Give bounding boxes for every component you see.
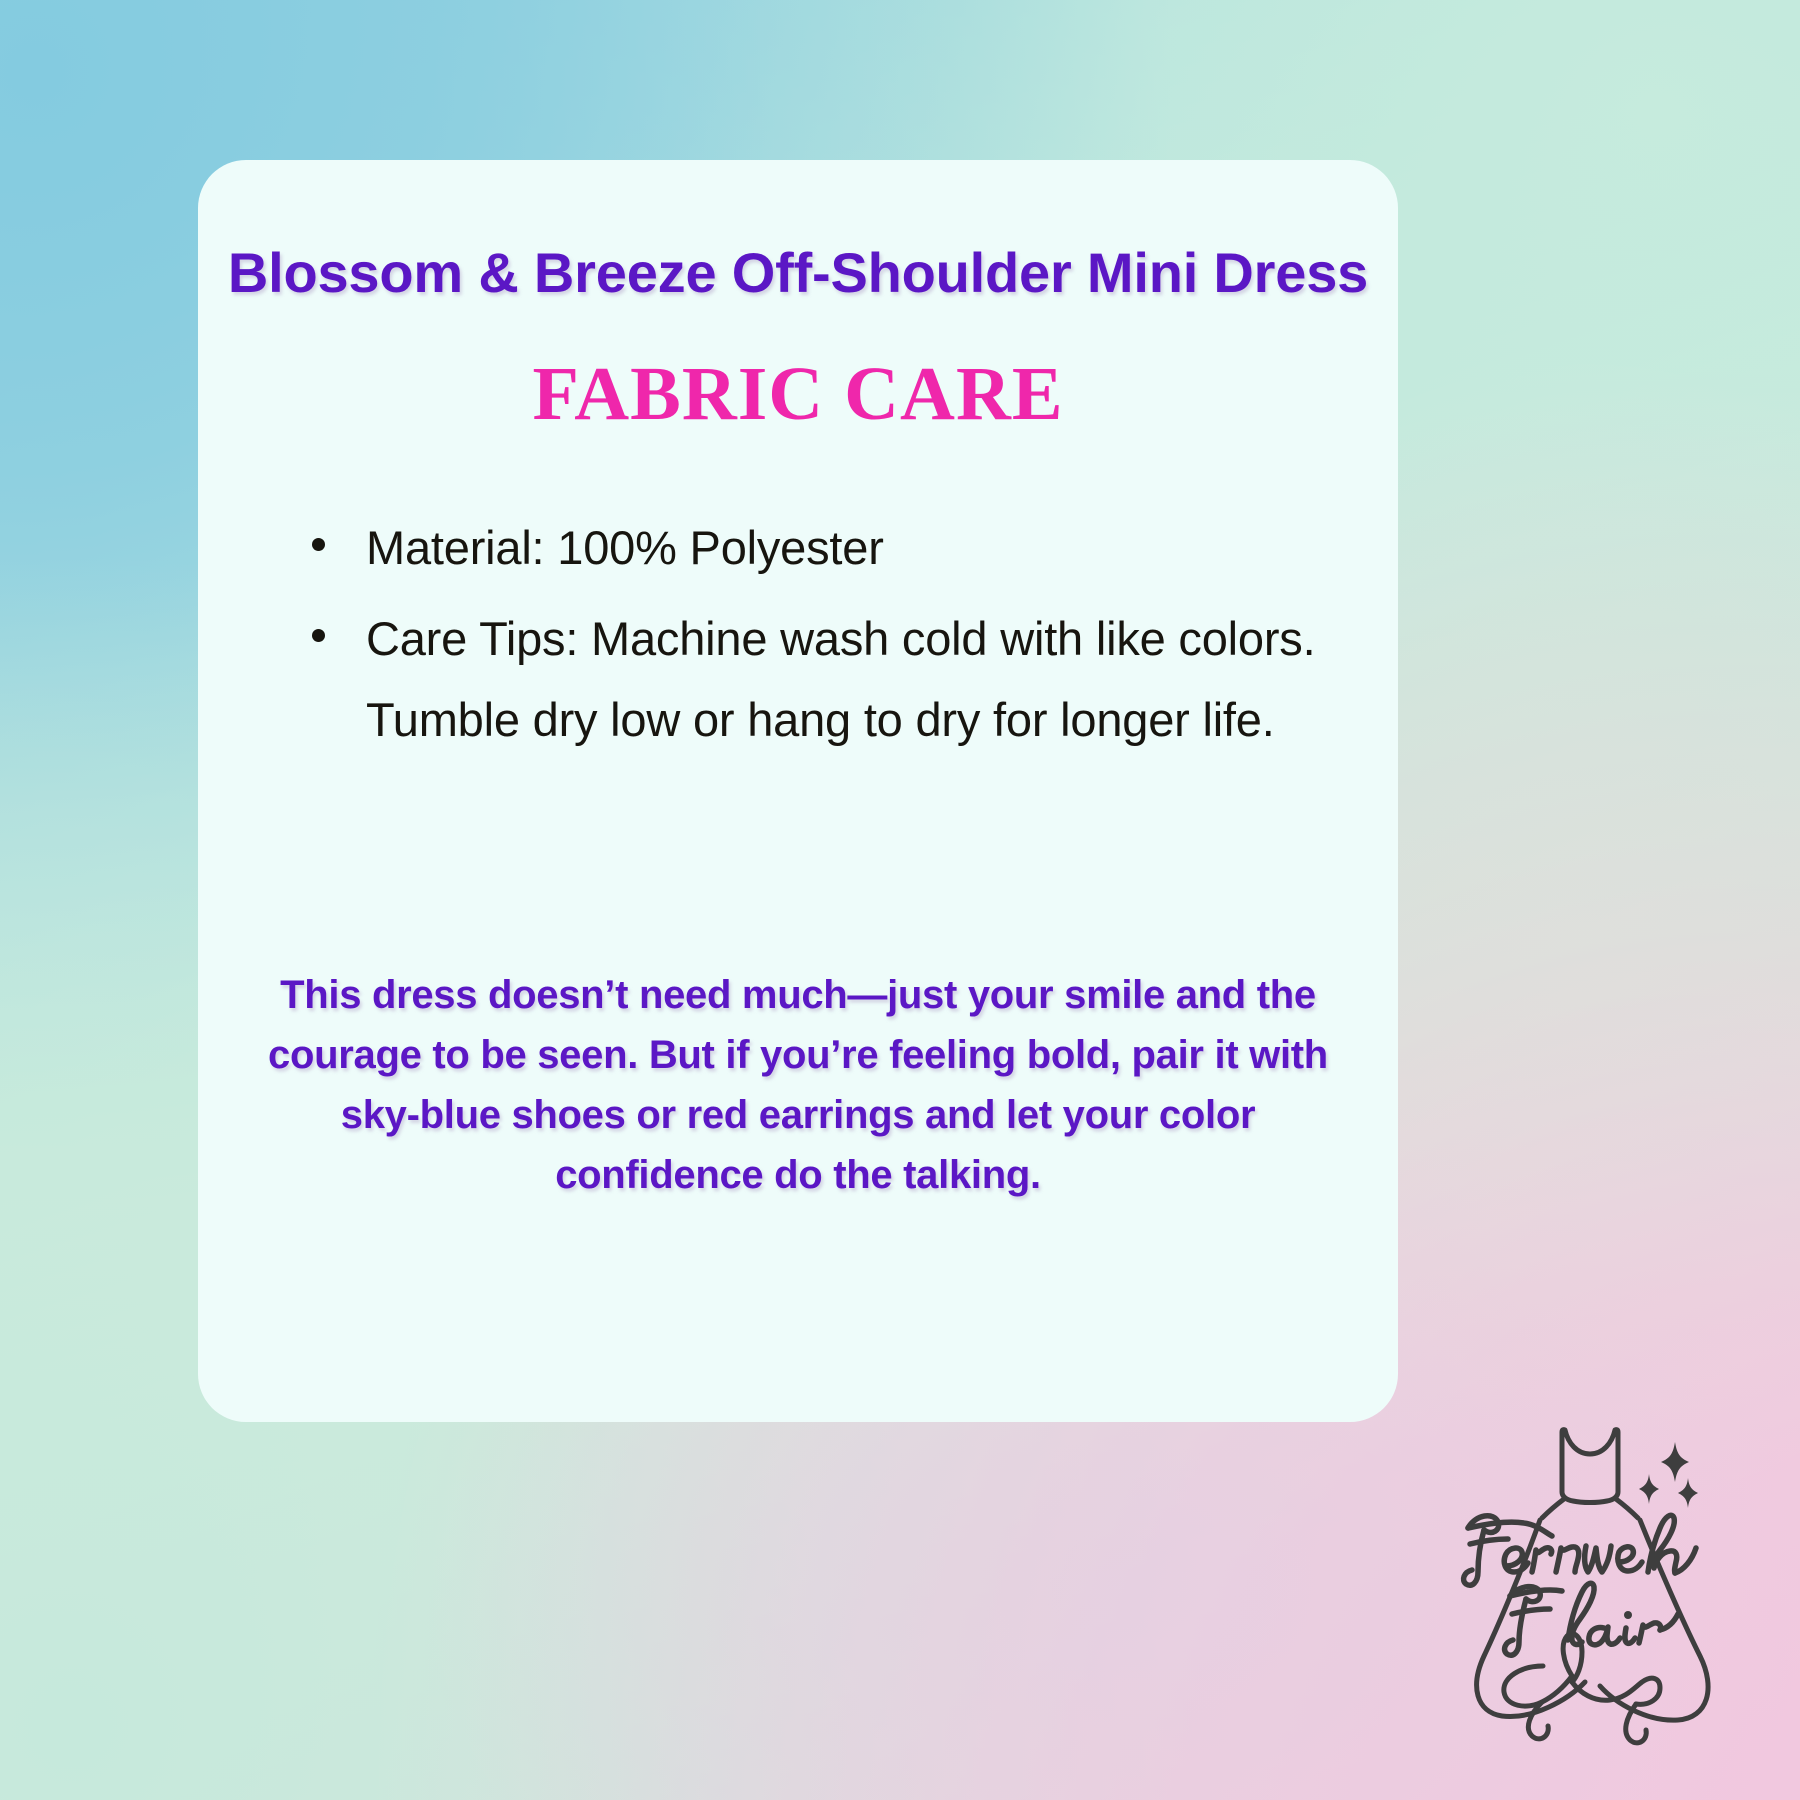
styling-note-paragraph: This dress doesn’t need much—just your s… [248, 965, 1348, 1205]
list-item-text: Material: 100% Polyester [366, 521, 884, 574]
content-card: Blossom & Breeze Off-Shoulder Mini Dress… [198, 160, 1398, 1422]
list-item: Material: 100% Polyester [290, 508, 1320, 589]
bullet-dot-icon [312, 629, 325, 642]
sparkle-icon [1639, 1442, 1698, 1508]
section-heading-fabric-care: FABRIC CARE [198, 355, 1398, 435]
fernweh-flair-logo [1420, 1400, 1790, 1770]
dress-bodice-icon [1562, 1430, 1618, 1503]
page-title: Blossom & Breeze Off-Shoulder Mini Dress [198, 242, 1398, 304]
list-item-text: Care Tips: Machine wash cold with like c… [366, 612, 1315, 746]
logo-script-flair [1505, 1583, 1678, 1655]
poster-canvas: Blossom & Breeze Off-Shoulder Mini Dress… [0, 0, 1800, 1800]
care-details-list: Material: 100% Polyester Care Tips: Mach… [290, 508, 1320, 770]
bullet-dot-icon [312, 538, 325, 551]
list-item: Care Tips: Machine wash cold with like c… [290, 599, 1320, 761]
